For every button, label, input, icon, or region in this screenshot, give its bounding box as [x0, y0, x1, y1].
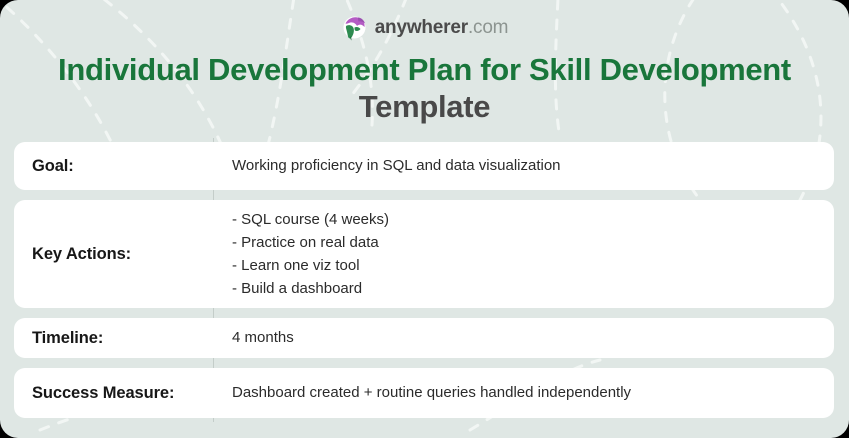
table-row-success-measure: Success Measure: Dashboard created + rou… — [14, 368, 834, 418]
label-key-actions: Key Actions: — [32, 245, 131, 264]
list-item: - Build a dashboard — [232, 277, 389, 300]
page-title: Individual Development Plan for Skill De… — [0, 52, 849, 125]
table-row-goal: Goal: Working proficiency in SQL and dat… — [14, 142, 834, 190]
table-cell-value-key-actions: - SQL course (4 weeks) - Practice on rea… — [213, 200, 834, 308]
value-goal: Working proficiency in SQL and data visu… — [232, 155, 561, 178]
brand-logo: anywherer.com — [0, 12, 849, 42]
table-cell-label-goal: Goal: — [14, 142, 213, 190]
label-success-measure: Success Measure: — [32, 384, 174, 403]
value-success-measure: Dashboard created + routine queries hand… — [232, 382, 631, 405]
page-title-line-1: Individual Development Plan for Skill De… — [0, 52, 849, 89]
brand-name: anywherer — [375, 17, 468, 38]
brand-logo-text: anywherer.com — [375, 18, 509, 37]
list-item: - Learn one viz tool — [232, 254, 389, 277]
key-actions-list: - SQL course (4 weeks) - Practice on rea… — [232, 208, 389, 301]
globe-logo-icon — [341, 14, 368, 41]
label-goal: Goal: — [32, 157, 74, 176]
table-row-key-actions: Key Actions: - SQL course (4 weeks) - Pr… — [14, 200, 834, 308]
brand-tld: .com — [468, 17, 508, 38]
table-cell-label-key-actions: Key Actions: — [14, 200, 213, 308]
table-cell-label-timeline: Timeline: — [14, 318, 213, 358]
list-item: - Practice on real data — [232, 231, 389, 254]
table-cell-value-success-measure: Dashboard created + routine queries hand… — [213, 368, 834, 418]
table-row-timeline: Timeline: 4 months — [14, 318, 834, 358]
value-timeline: 4 months — [232, 327, 294, 350]
list-item: - SQL course (4 weeks) — [232, 208, 389, 231]
table-cell-value-goal: Working proficiency in SQL and data visu… — [213, 142, 834, 190]
plan-table: Goal: Working proficiency in SQL and dat… — [14, 142, 834, 418]
page-title-line-2: Template — [0, 89, 849, 126]
table-cell-value-timeline: 4 months — [213, 318, 834, 358]
label-timeline: Timeline: — [32, 329, 103, 348]
template-page: anywherer.com Individual Development Pla… — [0, 0, 849, 438]
table-cell-label-success-measure: Success Measure: — [14, 368, 213, 418]
